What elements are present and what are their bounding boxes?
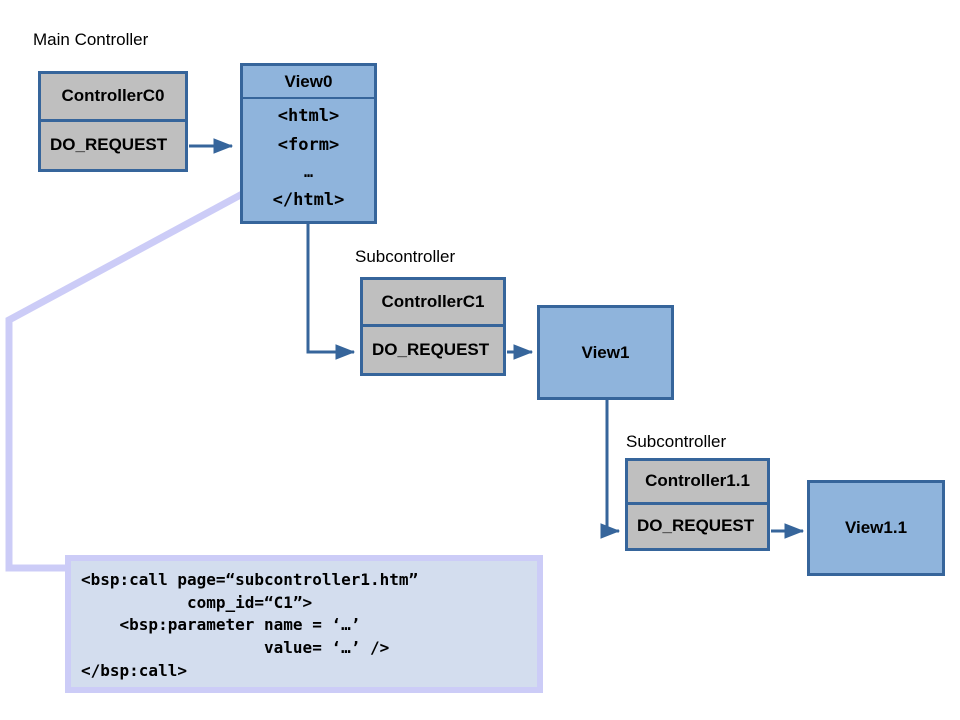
controller-c1-method[interactable]: DO_REQUEST: [363, 327, 503, 374]
controller-1-1-method[interactable]: DO_REQUEST: [628, 505, 767, 549]
view0-line-ellipsis: …: [304, 165, 313, 181]
diagram-canvas: Main Controller Subcontroller Subcontrol…: [0, 0, 960, 720]
arrow-view0-to-c1: [308, 224, 354, 352]
controller-1-1-name: Controller1.1: [628, 461, 767, 505]
view-box-view1[interactable]: View1: [537, 305, 674, 400]
controller-box-c1[interactable]: ControllerC1 DO_REQUEST: [360, 277, 506, 376]
view1-title: View1: [582, 343, 630, 363]
view-box-view1-1[interactable]: View1.1: [807, 480, 945, 576]
code-callout-text: <bsp:call page=“subcontroller1.htm” comp…: [81, 569, 527, 683]
caption-subcontroller-1: Subcontroller: [355, 247, 455, 267]
controller-box-c0[interactable]: ControllerC0 DO_REQUEST: [38, 71, 188, 172]
caption-subcontroller-2: Subcontroller: [626, 432, 726, 452]
caption-main-controller: Main Controller: [33, 30, 148, 50]
code-callout-box[interactable]: <bsp:call page=“subcontroller1.htm” comp…: [65, 555, 543, 693]
view0-line-form-open: <form>: [278, 137, 339, 155]
arrow-view1-to-c11: [607, 400, 619, 531]
view0-line-html-close: </html>: [273, 192, 345, 210]
controller-c1-name: ControllerC1: [363, 280, 503, 327]
view1-1-title: View1.1: [845, 518, 907, 538]
view-box-view0[interactable]: View0 <html> <form> … </html>: [240, 63, 377, 224]
view0-body: <html> <form> … </html>: [243, 99, 374, 221]
callout-leader-line: [9, 172, 283, 568]
controller-box-c1-1[interactable]: Controller1.1 DO_REQUEST: [625, 458, 770, 551]
controller-c0-name: ControllerC0: [41, 74, 185, 122]
controller-c0-method[interactable]: DO_REQUEST: [41, 122, 185, 170]
view0-title: View0: [243, 66, 374, 99]
view0-line-html-open: <html>: [278, 108, 339, 126]
